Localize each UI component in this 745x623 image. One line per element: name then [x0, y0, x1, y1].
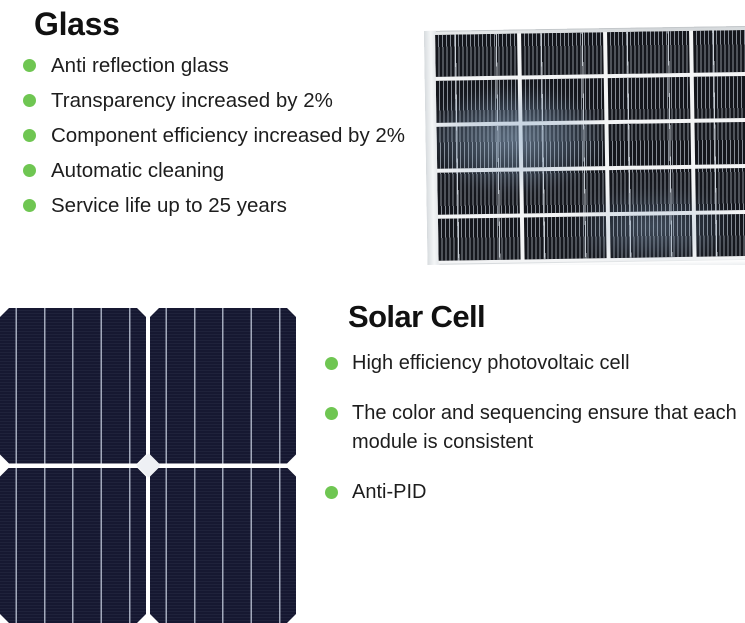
panel-cell — [437, 126, 520, 169]
list-item: Anti reflection glass — [20, 50, 420, 81]
bullet-dot-icon — [23, 199, 36, 212]
list-item: Service life up to 25 years — [20, 190, 420, 221]
panel-cell — [437, 172, 520, 215]
list-item-label: High efficiency photovoltaic cell — [352, 349, 742, 378]
list-item-label: Service life up to 25 years — [51, 190, 420, 221]
list-item-label: The color and sequencing ensure that eac… — [352, 399, 742, 457]
panel-cell — [608, 123, 691, 166]
solar-cell-feature-list: High efficiency photovoltaic cell The co… — [322, 349, 742, 507]
glass-feature-list: Anti reflection glass Transparency incre… — [20, 50, 420, 221]
panel-cell — [694, 121, 745, 164]
list-item: High efficiency photovoltaic cell — [322, 349, 742, 378]
list-item-label: Transparency increased by 2% — [51, 85, 420, 116]
panel-cell — [610, 215, 693, 258]
panel-cell-grid — [435, 30, 745, 261]
panel-cell — [521, 32, 604, 75]
list-item-label: Anti-PID — [352, 478, 742, 507]
glass-feature-block: Glass Anti reflection glass Transparency… — [20, 4, 420, 225]
list-item-label: Anti reflection glass — [51, 50, 420, 81]
list-item: Anti-PID — [322, 478, 742, 507]
mono-solar-cell — [150, 468, 296, 623]
panel-cell — [523, 170, 606, 213]
glass-section-title: Glass — [20, 4, 420, 44]
bullet-dot-icon — [23, 129, 36, 142]
list-item-label: Component efficiency increased by 2% — [51, 120, 420, 151]
feature-infographic: Glass Anti reflection glass Transparency… — [0, 0, 745, 623]
mono-solar-cell — [150, 308, 296, 464]
panel-cell — [608, 77, 691, 120]
panel-cell — [524, 216, 607, 259]
list-item: Transparency increased by 2% — [20, 85, 420, 116]
bullet-dot-icon — [325, 407, 338, 420]
monocrystalline-solar-cells-photo — [0, 308, 296, 623]
bullet-dot-icon — [325, 357, 338, 370]
panel-cell — [436, 80, 519, 123]
panel-cell — [695, 167, 745, 210]
panel-cell — [694, 75, 745, 118]
bullet-dot-icon — [325, 486, 338, 499]
solar-module-panel-photo — [415, 25, 745, 265]
solar-cell-section-title: Solar Cell — [322, 298, 742, 336]
panel-cell — [522, 78, 605, 121]
panel-aluminium-frame — [424, 26, 745, 265]
solar-cell-quad-grid — [0, 308, 296, 623]
list-item-label: Automatic cleaning — [51, 155, 420, 186]
bullet-dot-icon — [23, 94, 36, 107]
panel-cell — [609, 169, 692, 212]
list-item: The color and sequencing ensure that eac… — [322, 399, 742, 457]
bullet-dot-icon — [23, 59, 36, 72]
mono-solar-cell — [0, 308, 146, 464]
panel-cell — [693, 30, 745, 73]
list-item: Component efficiency increased by 2% — [20, 120, 420, 151]
mono-solar-cell — [0, 468, 146, 623]
solar-cell-feature-block: Solar Cell High efficiency photovoltaic … — [322, 298, 742, 528]
panel-cell — [696, 213, 745, 256]
panel-cell — [522, 124, 605, 167]
panel-cell — [435, 34, 518, 77]
panel-cell — [607, 31, 690, 74]
panel-cell — [438, 218, 521, 261]
bullet-dot-icon — [23, 164, 36, 177]
list-item: Automatic cleaning — [20, 155, 420, 186]
panel-glass-laminate — [435, 30, 745, 264]
